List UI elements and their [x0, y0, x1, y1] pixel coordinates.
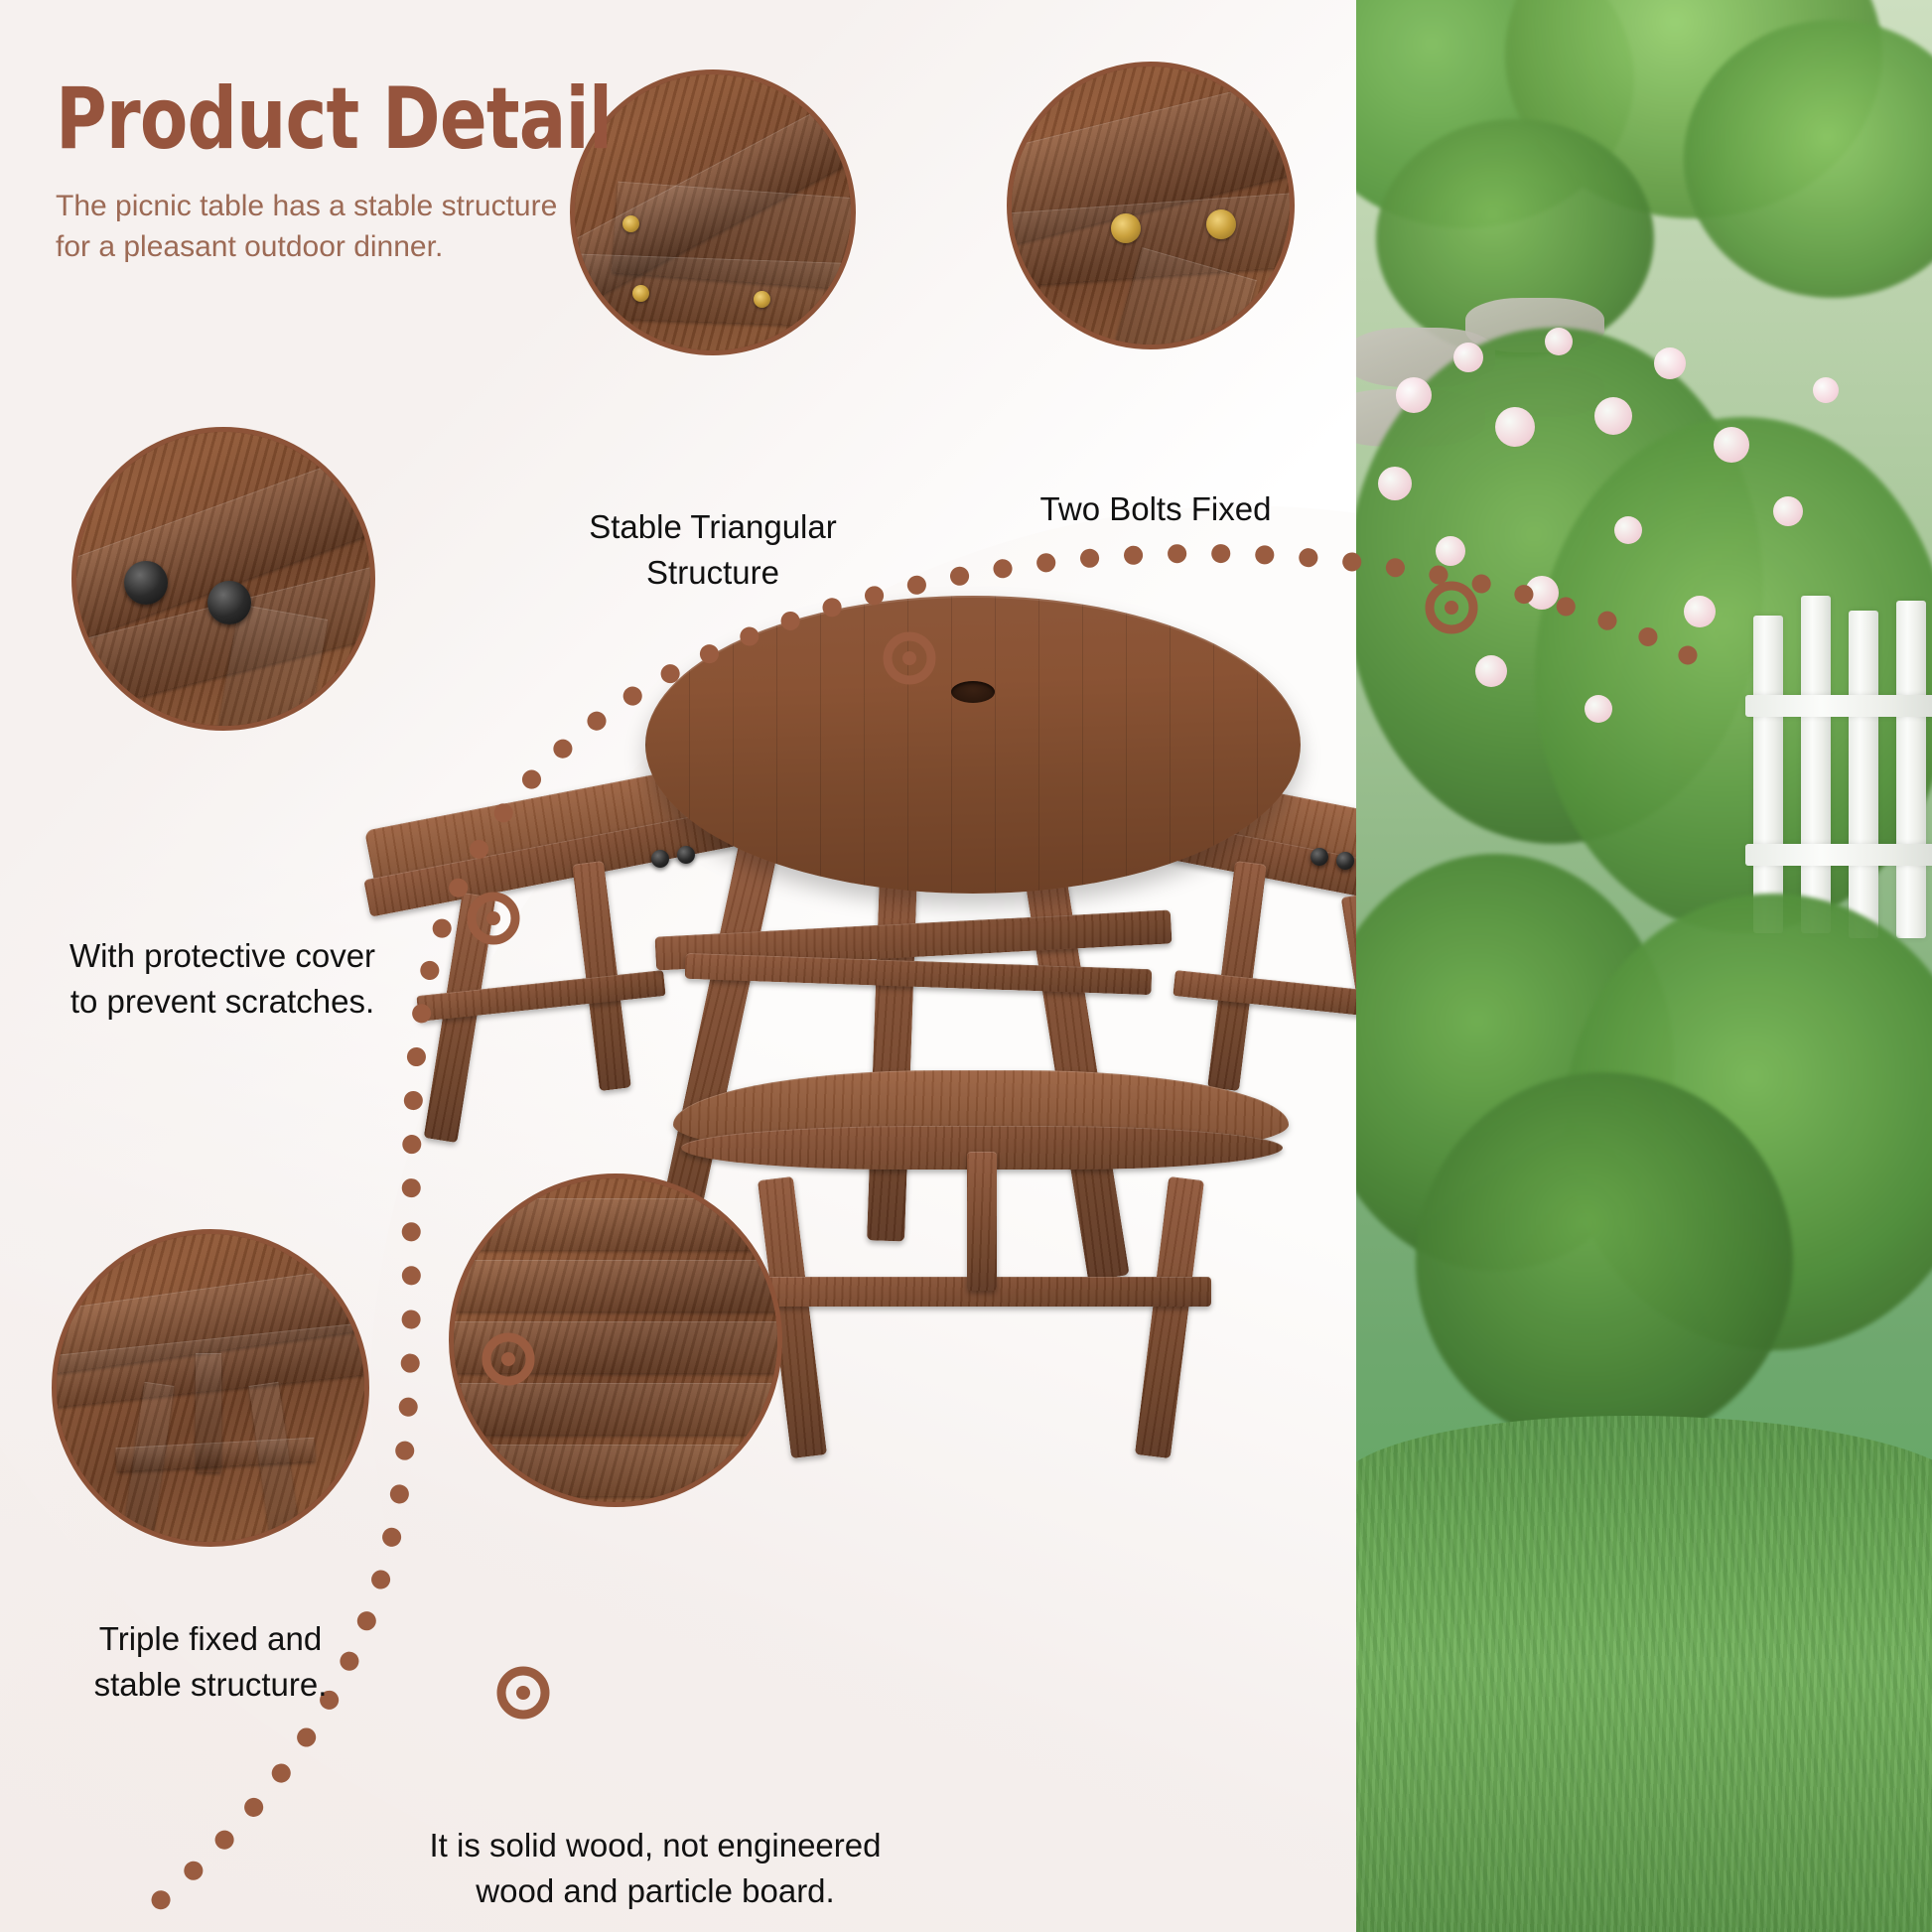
caption-line-2: wood and particle board. — [328, 1868, 983, 1914]
blossom — [1684, 596, 1716, 627]
garden-photo-strip — [1356, 0, 1932, 1932]
fence-post — [1896, 601, 1926, 938]
caption-line-1: Triple fixed and — [42, 1616, 379, 1662]
umbrella-hole — [951, 681, 995, 703]
caption-protective-cover: With protective cover to prevent scratch… — [18, 933, 427, 1024]
table-leg — [1017, 824, 1129, 1282]
detail-photo-two-bolts-fixed — [1007, 62, 1295, 349]
wood-slat — [449, 1260, 782, 1311]
fence-post — [1801, 596, 1831, 933]
blossom — [1436, 536, 1465, 566]
fence-post — [1753, 616, 1783, 933]
table-cross-stretcher — [685, 953, 1153, 995]
fence-rail — [1745, 695, 1932, 717]
blossom — [1396, 377, 1432, 413]
caption-line-2: to prevent scratches. — [18, 979, 427, 1025]
blossom — [1585, 695, 1612, 723]
blossom — [1495, 407, 1535, 447]
bolt-cap — [1311, 848, 1328, 866]
detail-photo-triple-fixed — [52, 1229, 369, 1547]
table-top — [645, 596, 1301, 894]
blossom — [1525, 576, 1559, 610]
caption-triple-fixed: Triple fixed and stable structure. — [42, 1616, 379, 1707]
bench-front-center-brace — [967, 1152, 997, 1291]
blossom — [1813, 377, 1839, 403]
caption-line-2: Structure — [524, 550, 901, 596]
hex-bolt-head — [1206, 209, 1236, 239]
screw-head — [632, 285, 649, 302]
product-detail-infographic: Product Detail The picnic table has a st… — [0, 0, 1932, 1932]
blossom — [1654, 347, 1686, 379]
hex-bolt-head — [1111, 213, 1141, 243]
blossom — [1475, 655, 1507, 687]
page-subtitle-line-2: for a pleasant outdoor dinner. — [56, 227, 572, 268]
bench-cross-brace — [196, 1353, 221, 1472]
caption-line-1: It is solid wood, not engineered — [328, 1823, 983, 1868]
blossom — [1614, 516, 1642, 544]
wood-slat — [449, 1321, 782, 1373]
page-title: Product Detail — [56, 77, 612, 161]
caption-two-bolts-fixed: Two Bolts Fixed — [977, 486, 1334, 532]
caption-line-2: stable structure. — [42, 1662, 379, 1708]
wood-slat — [449, 1383, 782, 1435]
detail-photo-protective-cover — [71, 427, 375, 731]
blossom — [1594, 397, 1632, 435]
caption-stable-triangular-structure: Stable Triangular Structure — [524, 504, 901, 595]
wood-slat — [449, 1198, 782, 1250]
bolt-cap — [677, 846, 695, 864]
fence-post — [1849, 611, 1878, 938]
title-block: Product Detail The picnic table has a st… — [56, 77, 734, 268]
blossom — [1453, 343, 1483, 372]
table-leg — [867, 843, 918, 1241]
detail-photo-solid-wood — [449, 1173, 782, 1507]
screw-head — [754, 291, 770, 308]
blossom — [1714, 427, 1749, 463]
caption-solid-wood: It is solid wood, not engineered wood an… — [328, 1823, 983, 1913]
lawn-texture — [1356, 1416, 1932, 1932]
protective-cover-cap — [124, 561, 168, 605]
page-subtitle: The picnic table has a stable structure … — [56, 187, 572, 268]
page-subtitle-line-1: The picnic table has a stable structure — [56, 187, 572, 227]
caption-line-1: Two Bolts Fixed — [977, 486, 1334, 532]
caption-line-1: Stable Triangular — [524, 504, 901, 550]
wood-slat — [449, 1445, 782, 1496]
blossom — [1545, 328, 1573, 355]
protective-cover-cap — [207, 581, 251, 624]
bolt-cap — [651, 850, 669, 868]
caption-line-1: With protective cover — [18, 933, 427, 979]
blossom — [1773, 496, 1803, 526]
blossom — [1378, 467, 1412, 500]
bench-front-leg — [1135, 1176, 1204, 1458]
fence-rail — [1745, 844, 1932, 866]
foliage-cluster — [1416, 1072, 1793, 1449]
bolt-cap — [1336, 852, 1354, 870]
